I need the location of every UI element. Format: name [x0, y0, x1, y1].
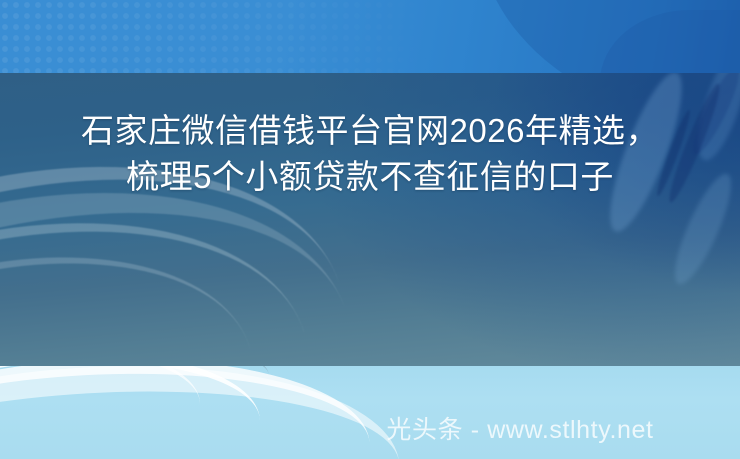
banner-title: 石家庄微信借钱平台官网2026年精选， 梳理5个小额贷款不查征信的口子 — [0, 108, 740, 200]
bottom-color-band — [0, 366, 740, 459]
title-line-1: 石家庄微信借钱平台官网2026年精选， — [0, 108, 740, 154]
dot-grid-texture — [0, 0, 440, 73]
promo-banner: 石家庄微信借钱平台官网2026年精选， 梳理5个小额贷款不查征信的口子 光头条 … — [0, 0, 740, 459]
watermark-text: 光头条 - www.stlhty.net — [386, 415, 653, 445]
title-line-2: 梳理5个小额贷款不查征信的口子 — [0, 154, 740, 200]
watermark: 光头条 - www.stlhty.net — [0, 415, 740, 445]
top-color-band — [0, 0, 740, 73]
